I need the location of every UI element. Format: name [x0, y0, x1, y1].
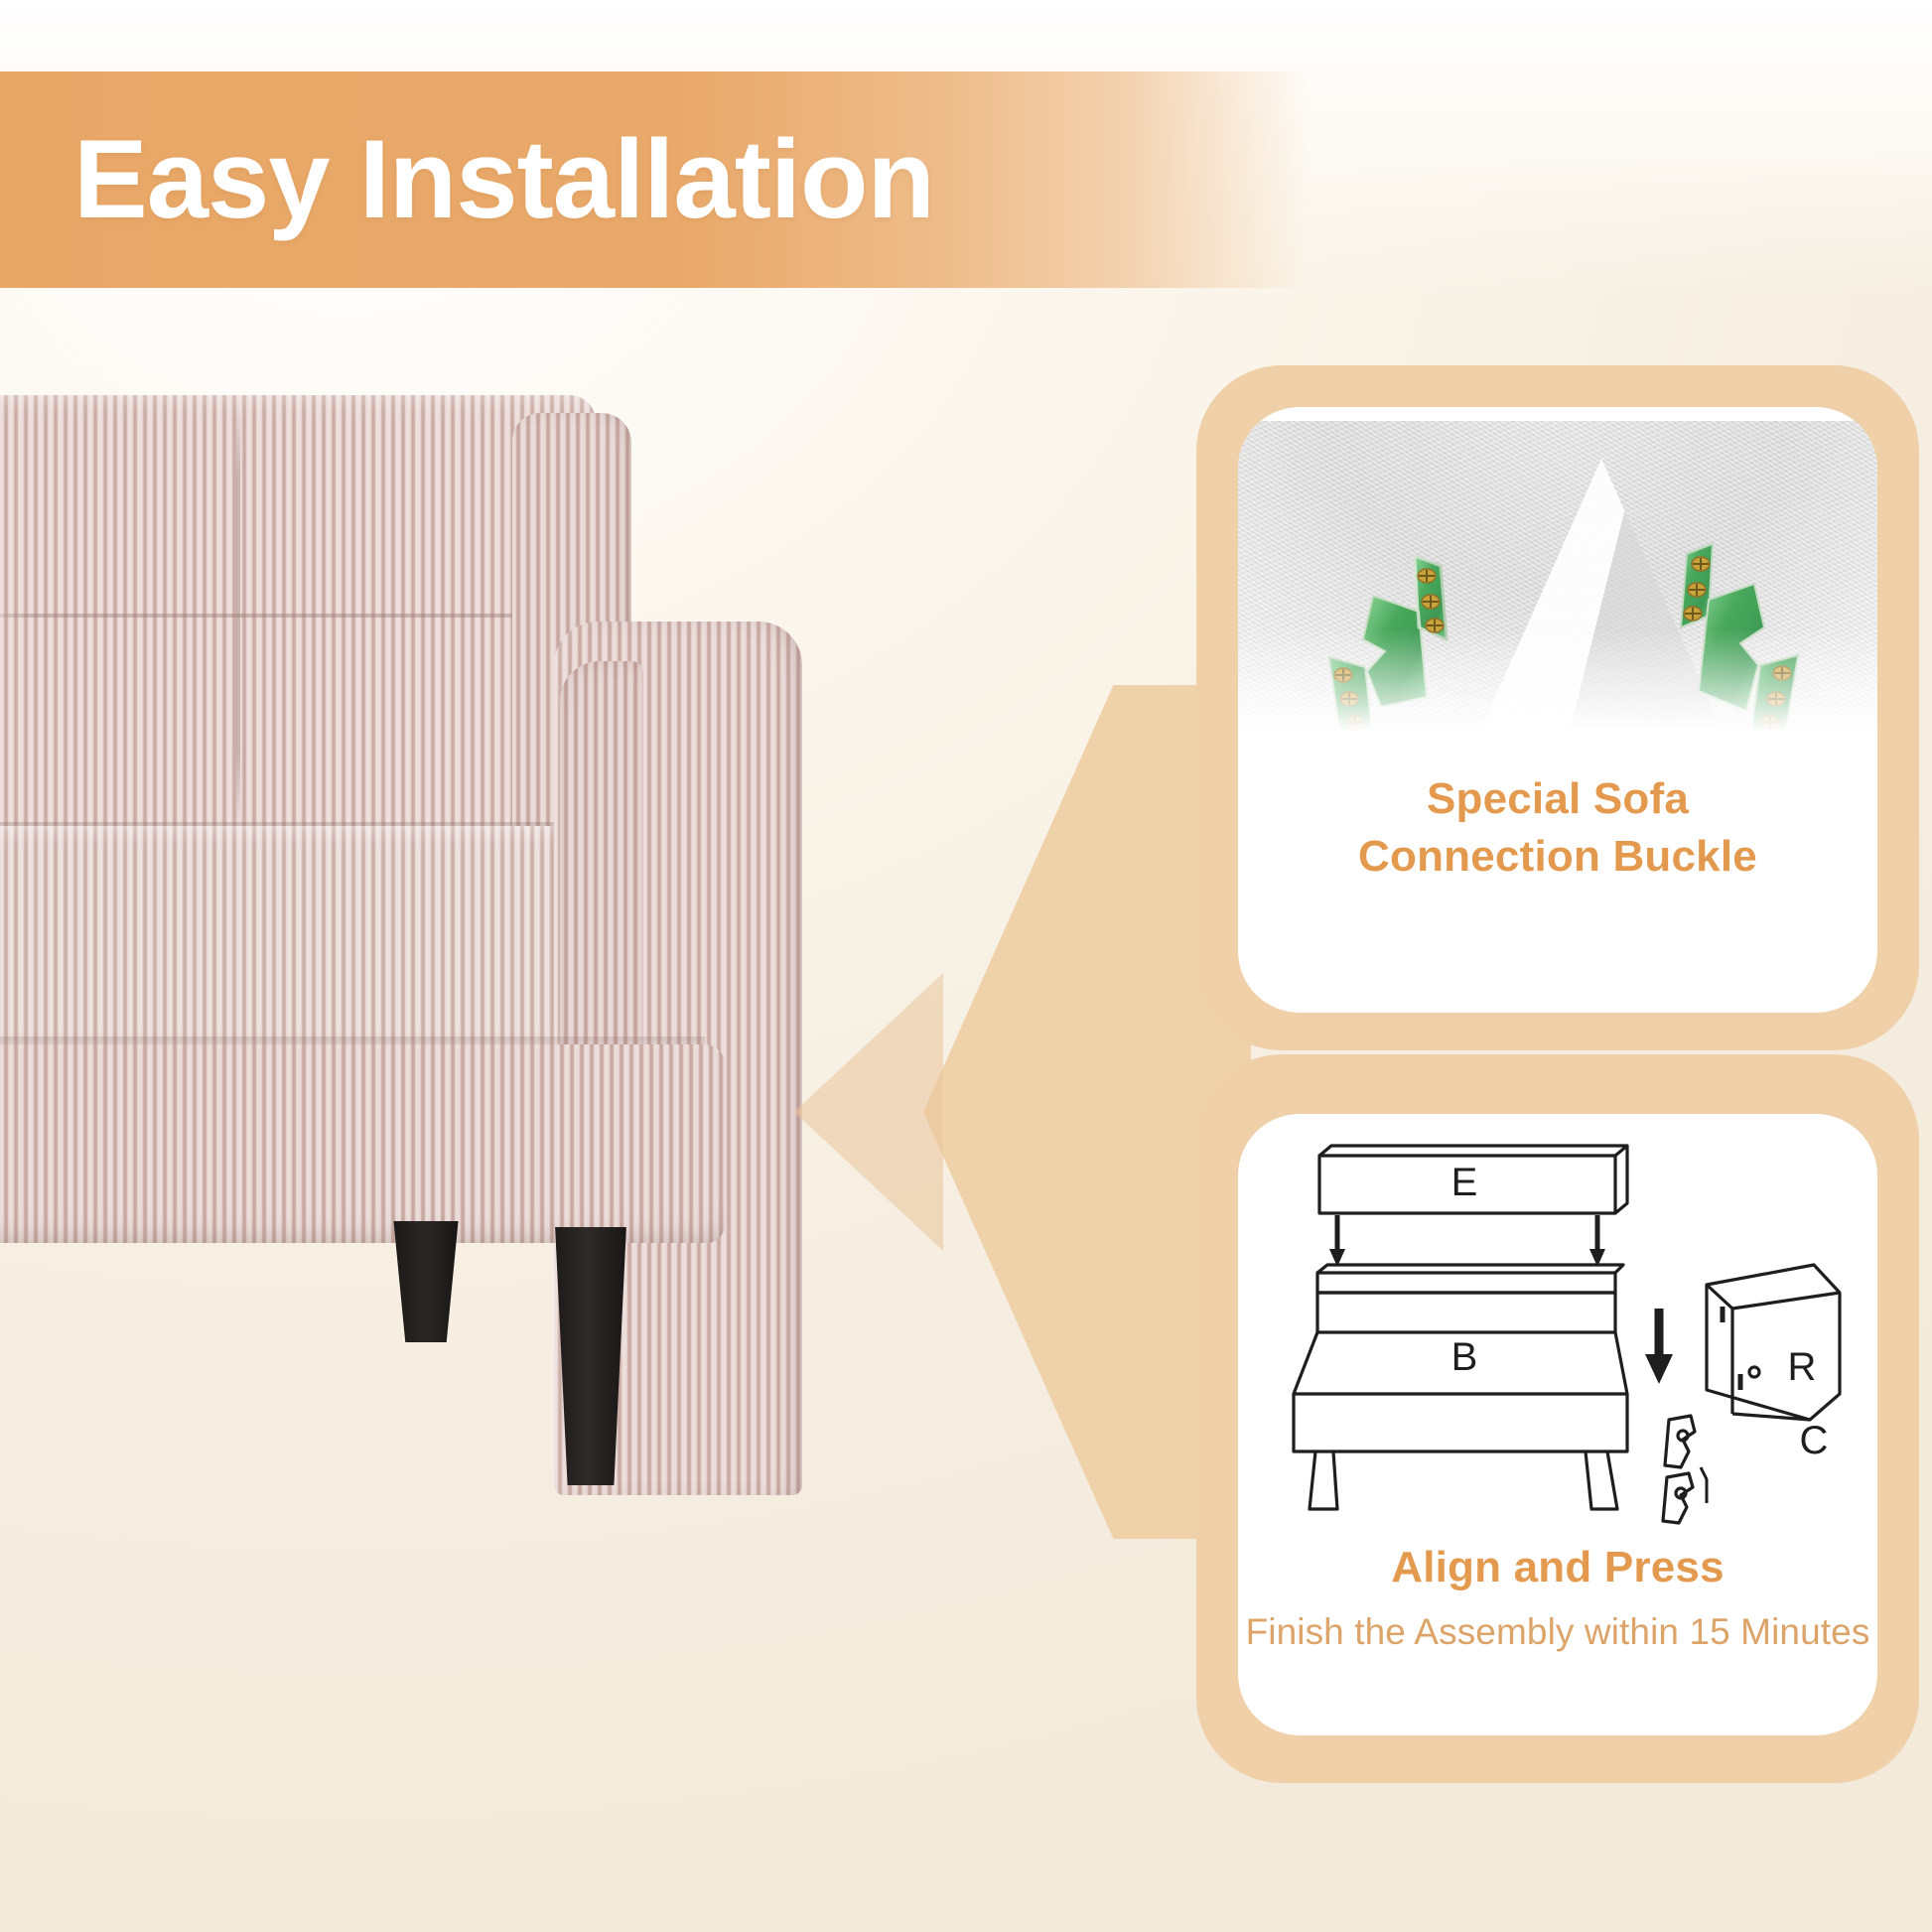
diagram-label-side-panel: R — [1788, 1345, 1817, 1389]
sofa-backrest — [0, 395, 596, 862]
buckle-caption: Special Sofa Connection Buckle — [1238, 770, 1877, 886]
sofa-backrest-seam-vertical — [236, 401, 240, 828]
sofa-backrest-seam-horizontal — [0, 614, 586, 618]
diagram-label-base: B — [1451, 1335, 1478, 1379]
photo-bottom-fade — [1238, 629, 1877, 749]
sofa-base-frame — [0, 1044, 725, 1243]
assembly-caption-line-2: Finish the Assembly within 15 Minutes — [1238, 1608, 1877, 1655]
buckle-card[interactable]: Special Sofa Connection Buckle — [1238, 407, 1877, 1013]
product-infographic: Easy Installation — [0, 0, 1932, 1932]
diagram-label-backrest: E — [1451, 1161, 1478, 1204]
buckle-caption-line-1: Special Sofa — [1238, 770, 1877, 828]
sofa-leg-rear — [389, 1221, 463, 1342]
page-title: Easy Installation — [73, 124, 934, 235]
align-and-press-assembly-diagram: E B R C — [1258, 1134, 1858, 1531]
assembly-caption: Align and Press Finish the Assembly with… — [1238, 1539, 1877, 1655]
sofa-connection-buckle-photo — [1238, 421, 1877, 749]
sofa-product-image — [0, 377, 894, 1787]
diagram-label-brackets: C — [1800, 1419, 1829, 1462]
assembly-caption-line-1: Align and Press — [1238, 1539, 1877, 1596]
header-banner: Easy Installation — [0, 71, 1311, 288]
buckle-caption-line-2: Connection Buckle — [1238, 828, 1877, 886]
assembly-card[interactable]: E B R C Align and Press Finish the Assem… — [1238, 1114, 1877, 1735]
